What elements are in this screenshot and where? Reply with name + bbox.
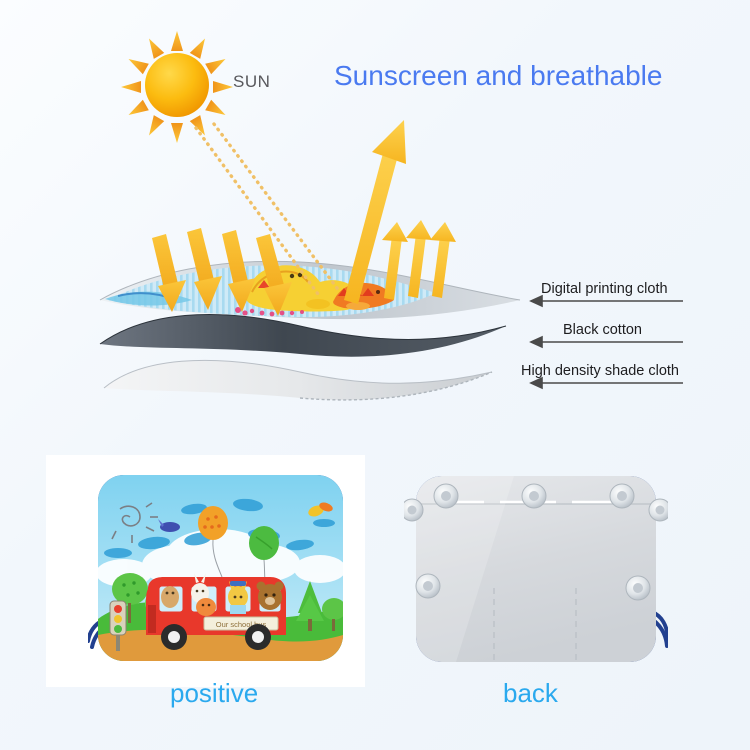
layer-black-cotton bbox=[100, 314, 506, 356]
suction-cup bbox=[416, 574, 440, 598]
infographic-canvas: SUN Sunscreen and breathable bbox=[0, 0, 750, 750]
suction-cup bbox=[649, 499, 668, 521]
suction-cup bbox=[434, 484, 458, 508]
animal-fox bbox=[196, 598, 216, 616]
product-back-image[interactable] bbox=[404, 470, 668, 670]
caption-back: back bbox=[503, 678, 558, 709]
layer-label-high-density-shade-cloth: High density shade cloth bbox=[521, 363, 679, 379]
product-front-image[interactable]: Our school bus bbox=[88, 469, 353, 669]
suction-cup bbox=[522, 484, 546, 508]
caption-positive: positive bbox=[170, 678, 258, 709]
layer-high-density-shade-cloth bbox=[104, 360, 492, 400]
suction-cup bbox=[626, 576, 650, 600]
layer-label-digital-printing-cloth: Digital printing cloth bbox=[541, 281, 668, 297]
animal-cat bbox=[228, 581, 248, 614]
layer-label-black-cotton: Black cotton bbox=[563, 322, 642, 338]
animal-giraffe bbox=[161, 586, 179, 608]
suction-cup bbox=[610, 484, 634, 508]
suction-cup bbox=[404, 499, 423, 521]
